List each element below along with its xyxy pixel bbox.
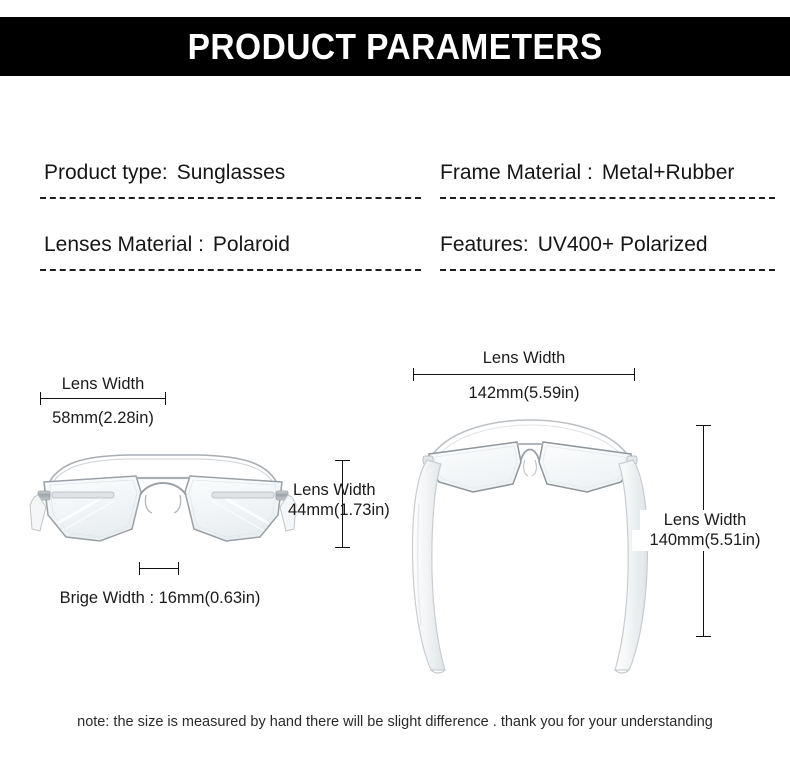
bridge-width-dimension-line bbox=[139, 562, 179, 575]
spec-divider-left bbox=[40, 197, 421, 199]
measurement-disclaimer-note: note: the size is measured by hand there… bbox=[0, 714, 790, 730]
spec-value-frame-material: Metal+Rubber bbox=[602, 161, 735, 185]
spec-row: Lenses Material : Polaroid Features: UV4… bbox=[0, 222, 790, 294]
spec-label-features: Features: bbox=[440, 233, 529, 257]
header-banner: PRODUCT PARAMETERS bbox=[0, 17, 790, 76]
lens-width-dimension-line-front bbox=[40, 392, 166, 405]
lens-height-label-front: Lens Width bbox=[293, 480, 376, 501]
frame-width-dimension-line-top bbox=[413, 368, 635, 381]
size-diagram-area: Lens Width 58mm(2.28in) bbox=[0, 330, 790, 690]
page-title: PRODUCT PARAMETERS bbox=[187, 26, 602, 68]
spec-value-product-type: Sunglasses bbox=[177, 161, 286, 185]
temple-length-value: 140mm(5.51in) bbox=[632, 530, 778, 551]
top-view-sunglasses-image bbox=[405, 412, 655, 678]
spec-label-lenses-material: Lenses Material : bbox=[44, 233, 204, 257]
spec-cell-frame-material: Frame Material : Metal+Rubber bbox=[440, 150, 734, 196]
bridge-width-label: Brige Width : 16mm(0.63in) bbox=[44, 588, 276, 609]
spec-value-lenses-material: Polaroid bbox=[213, 233, 290, 257]
spec-row: Product type: Sunglasses Frame Material … bbox=[0, 150, 790, 222]
spec-cell-product-type: Product type: Sunglasses bbox=[44, 150, 285, 196]
frame-width-label-top: Lens Width bbox=[413, 348, 635, 369]
product-spec-table: Product type: Sunglasses Frame Material … bbox=[0, 150, 790, 294]
spec-divider-right bbox=[440, 197, 775, 199]
spec-value-features: UV400+ Polarized bbox=[538, 233, 708, 257]
lens-height-value-front: 44mm(1.73in) bbox=[288, 500, 390, 521]
spec-label-frame-material: Frame Material : bbox=[440, 161, 593, 185]
lens-width-value-front: 58mm(2.28in) bbox=[26, 408, 180, 429]
spec-divider-left bbox=[40, 269, 421, 271]
frame-width-value-top: 142mm(5.59in) bbox=[413, 383, 635, 404]
temple-length-label: Lens Width bbox=[640, 510, 770, 531]
spec-label-product-type: Product type: bbox=[44, 161, 168, 185]
spec-divider-right bbox=[440, 269, 775, 271]
spec-cell-lenses-material: Lenses Material : Polaroid bbox=[44, 222, 290, 268]
spec-cell-features: Features: UV400+ Polarized bbox=[440, 222, 708, 268]
front-view-sunglasses-image bbox=[28, 445, 298, 570]
